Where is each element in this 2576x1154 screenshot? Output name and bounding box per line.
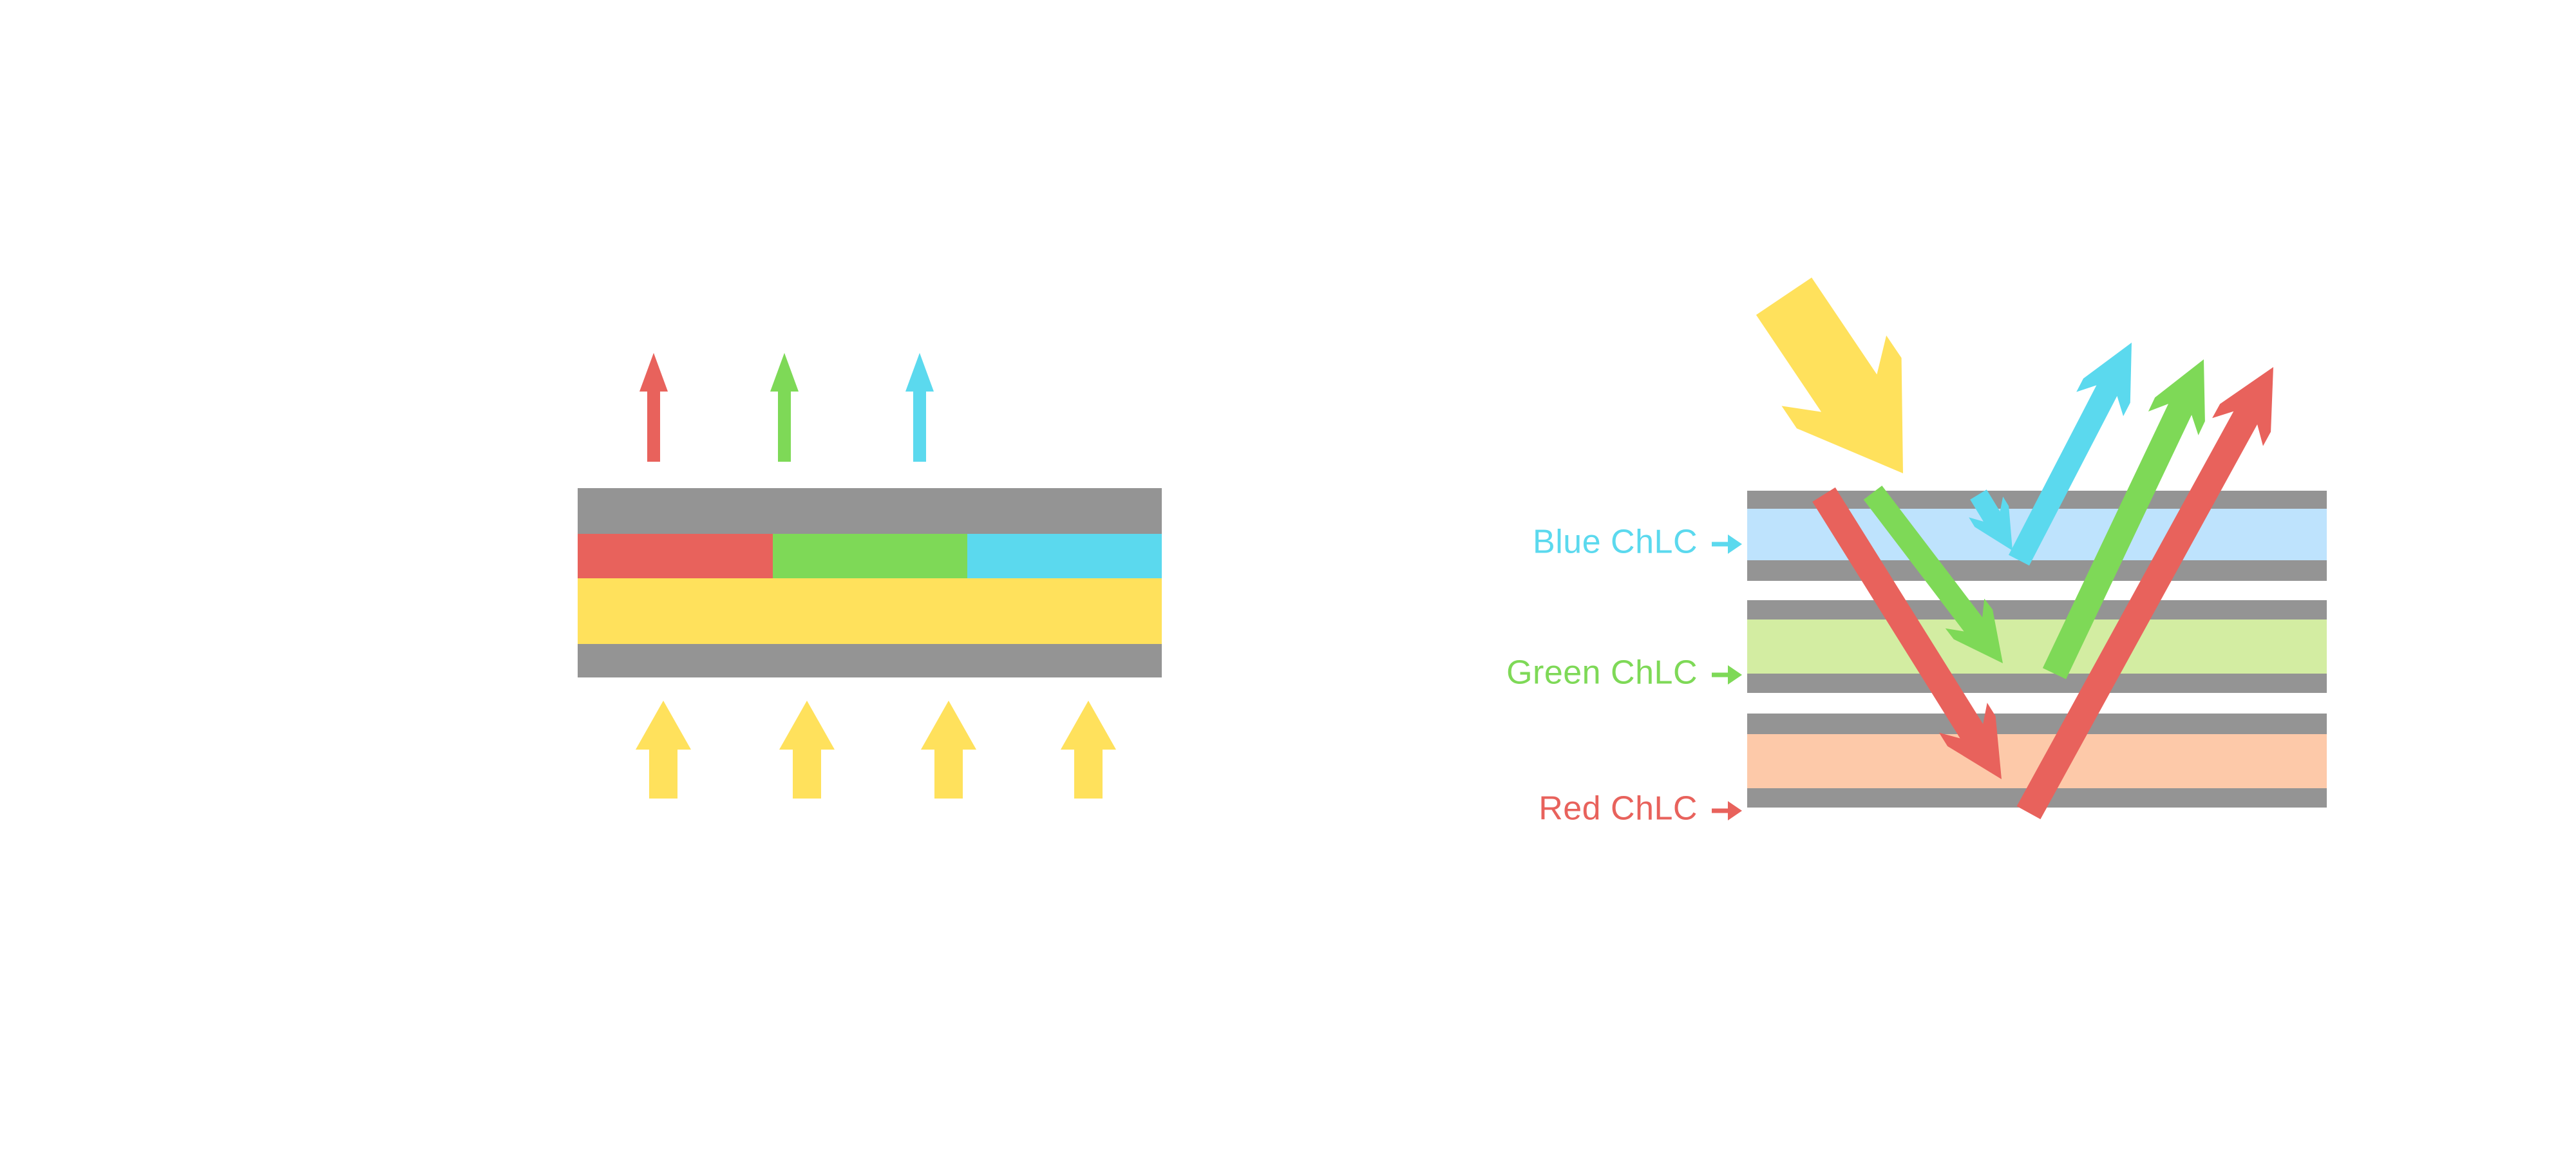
bottom-electrode — [578, 644, 1162, 677]
incident-white-light-arrow — [1756, 278, 1903, 473]
backlight-arrow-1 — [636, 701, 691, 799]
green-filter — [773, 534, 967, 578]
chlc-layer-labels: Blue ChLCGreen ChLCRed ChLC — [1506, 524, 1742, 828]
emitted-red-arrow — [639, 353, 668, 462]
blue-chlc-label: Blue ChLC — [1533, 524, 1698, 561]
right-panel-group: Blue ChLCGreen ChLCRed ChLC — [1506, 278, 2327, 828]
backlight-layer — [578, 578, 1162, 644]
emitted-blue-arrow — [905, 353, 934, 462]
gap-2 — [1747, 693, 2327, 714]
red-chlc-label: Red ChLC — [1539, 790, 1698, 828]
top-electrode — [578, 488, 1162, 534]
cyan-filter — [967, 534, 1162, 578]
green-bottom-electrode — [1747, 674, 2327, 693]
left-stack — [578, 488, 1162, 677]
backlight-arrow-4 — [1061, 701, 1116, 799]
emitted-green-arrow — [770, 353, 799, 462]
gap-1 — [1747, 581, 2327, 600]
blue-chlc-label-leader-arrowhead — [1728, 534, 1742, 554]
left-panel-group — [578, 353, 1162, 799]
diagram-svg: Blue ChLCGreen ChLCRed ChLC — [0, 0, 2576, 1154]
red-filter — [578, 534, 773, 578]
green-chlc-label-leader-arrowhead — [1728, 665, 1742, 685]
green-top-electrode — [1747, 600, 2327, 620]
backlight-arrow-2 — [779, 701, 835, 799]
left-backlight-arrows — [636, 701, 1116, 799]
red-top-electrode — [1747, 714, 2327, 734]
blue-bottom-electrode — [1747, 560, 2327, 581]
green-chlc-layer — [1747, 620, 2327, 674]
green-chlc-label: Green ChLC — [1506, 654, 1698, 692]
diagram-canvas: Blue ChLCGreen ChLCRed ChLC — [0, 0, 2576, 1154]
backlight-arrow-3 — [921, 701, 976, 799]
left-emitted-arrows — [639, 353, 934, 462]
red-chlc-label-leader-arrowhead — [1728, 801, 1742, 820]
incident-arrow-group — [1756, 278, 1903, 473]
